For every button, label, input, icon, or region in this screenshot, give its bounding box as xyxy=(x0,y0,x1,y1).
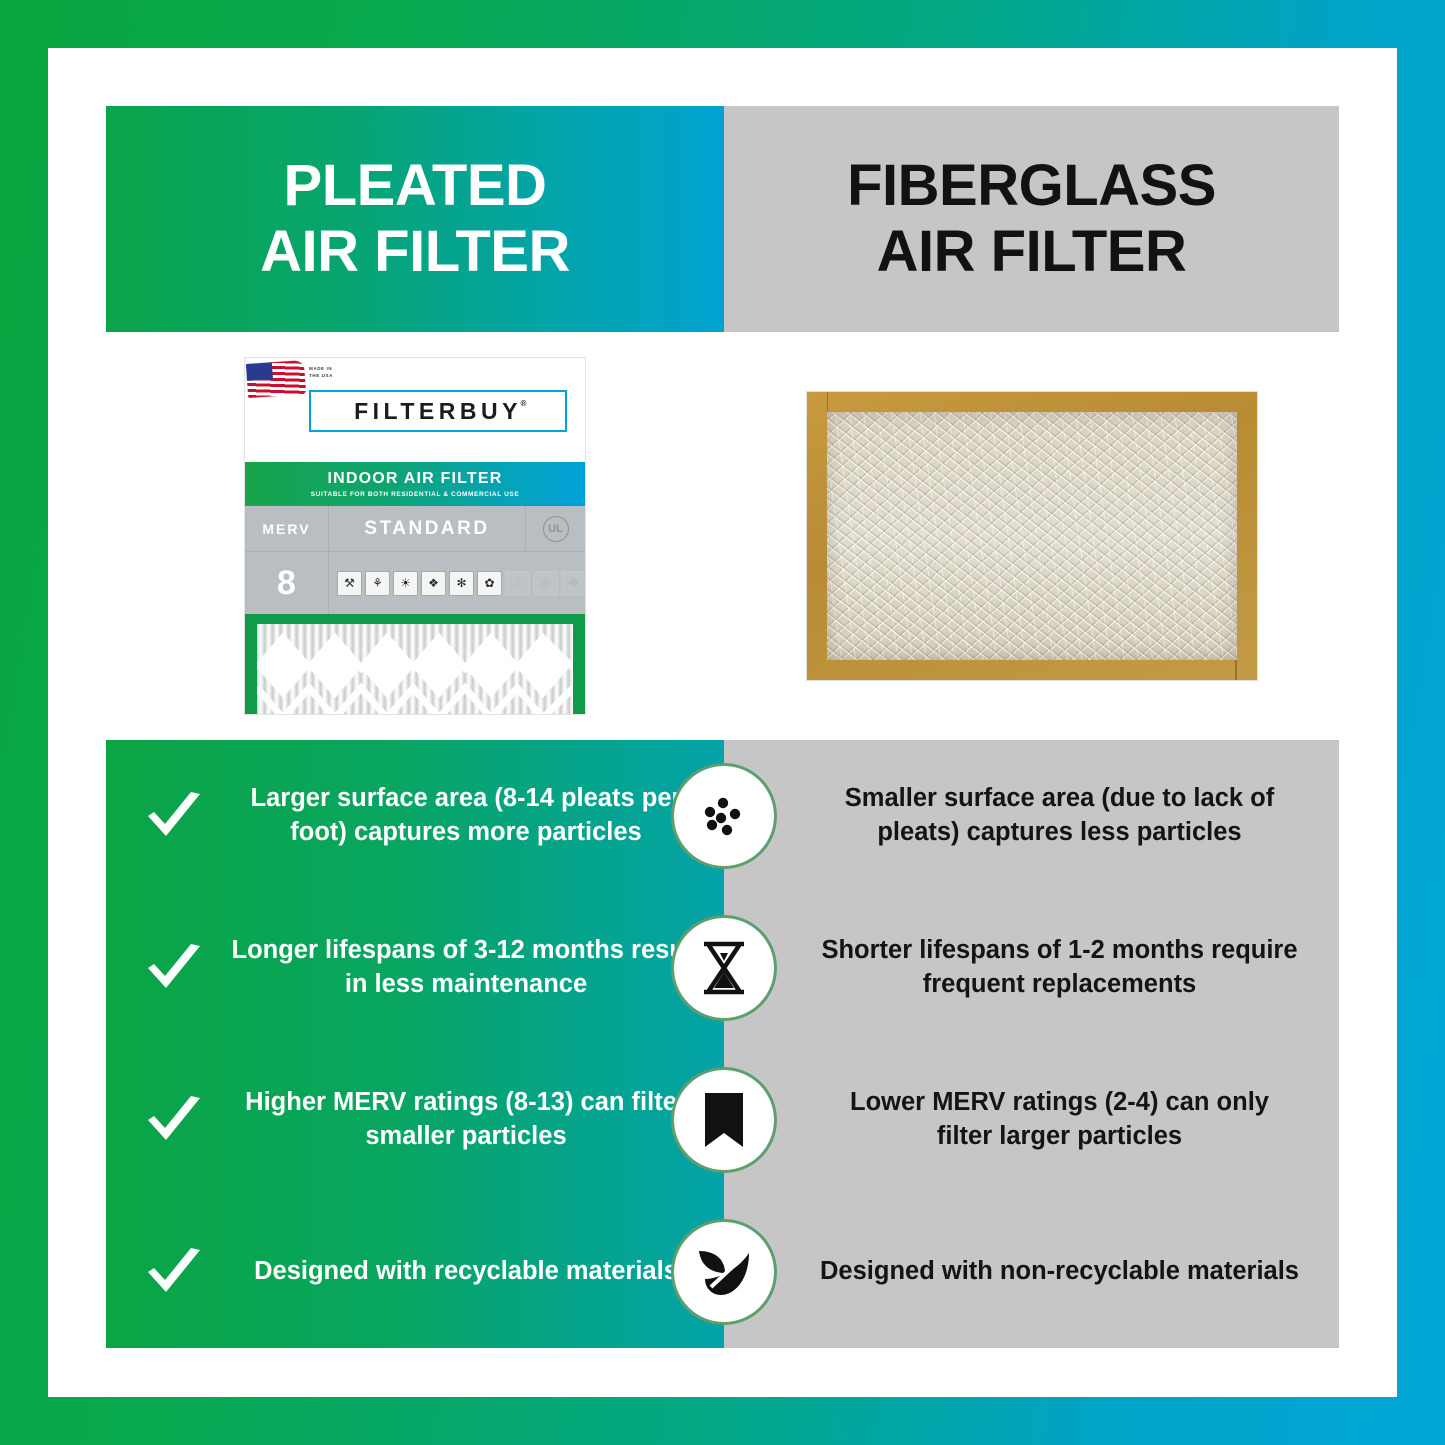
row-right-text: Lower MERV ratings (2-4) can only filter… xyxy=(820,1086,1299,1154)
merv-label-cell: MERV xyxy=(245,506,329,551)
frame-seam-right xyxy=(1235,660,1237,680)
header-row: PLEATED AIR FILTER FIBERGLASS AIR FILTER xyxy=(106,106,1339,332)
indoor-air-filter-band: INDOOR AIR FILTER SUITABLE FOR BOTH RESI… xyxy=(245,462,585,506)
header-fiberglass-line2: AIR FILTER xyxy=(847,219,1216,285)
ul-certification-icon: UL xyxy=(543,516,569,542)
comparison-row: Designed with recyclable materials xyxy=(106,1196,1339,1348)
box-top-section: MADE IN THE USA FILTERBUY® xyxy=(245,358,585,462)
row-right-cell: Smaller surface area (due to lack of ple… xyxy=(724,782,1339,850)
infographic-body: PLEATED AIR FILTER FIBERGLASS AIR FILTER xyxy=(106,106,1339,1339)
virus-icon: ❉ xyxy=(561,571,585,596)
particles-dots-icon xyxy=(671,763,777,869)
fiberglass-filter-image xyxy=(807,392,1257,680)
filterbuy-logo-frame: FILTERBUY® xyxy=(309,390,567,432)
made-in-line1: MADE IN xyxy=(309,366,333,373)
indoor-air-filter-subtitle: SUITABLE FOR BOTH RESIDENTIAL & COMMERCI… xyxy=(311,491,520,498)
header-pleated: PLEATED AIR FILTER xyxy=(106,106,724,332)
grade-label: STANDARD xyxy=(329,506,525,551)
row-left-cell: Designed with recyclable materials xyxy=(106,1246,724,1298)
comparison-rows: Larger surface area (8-14 pleats per foo… xyxy=(106,740,1339,1348)
support-wire-icon xyxy=(257,624,573,714)
row-right-cell: Lower MERV ratings (2-4) can only filter… xyxy=(724,1086,1339,1154)
row-left-cell: Higher MERV ratings (8-13) can filter sm… xyxy=(106,1086,724,1154)
row-center-icon-slot xyxy=(671,763,777,869)
made-in-line2: THE USA xyxy=(309,373,333,380)
ul-cert-cell: UL xyxy=(525,506,585,551)
header-fiberglass-title: FIBERGLASS AIR FILTER xyxy=(847,153,1216,284)
pleat-media-texture xyxy=(257,624,573,714)
row-right-cell: Shorter lifespans of 1-2 months require … xyxy=(724,934,1339,1002)
dust-mites-icon: ❖ xyxy=(421,571,446,596)
checkmark-icon xyxy=(142,1246,206,1298)
row-left-text: Longer lifespans of 3-12 months result i… xyxy=(222,934,710,1002)
outer-gradient-frame: PLEATED AIR FILTER FIBERGLASS AIR FILTER xyxy=(0,0,1445,1445)
smoke-icon: ☃ xyxy=(505,571,530,596)
row-right-text: Smaller surface area (due to lack of ple… xyxy=(820,782,1299,850)
comparison-row: Larger surface area (8-14 pleats per foo… xyxy=(106,740,1339,892)
header-pleated-title: PLEATED AIR FILTER xyxy=(260,153,570,284)
header-fiberglass-line1: FIBERGLASS xyxy=(847,153,1216,219)
pleated-product-cell: MADE IN THE USA FILTERBUY® INDOOR AIR FI… xyxy=(106,332,724,740)
frame-seam-left xyxy=(827,392,829,412)
filterbuy-logo-text: FILTERBUY® xyxy=(354,398,522,425)
dust-lint-icon: ⚒ xyxy=(337,571,362,596)
row-center-icon-slot xyxy=(671,1067,777,1173)
row-left-text: Larger surface area (8-14 pleats per foo… xyxy=(222,782,710,850)
usa-flag-icon xyxy=(246,360,306,398)
header-pleated-line1: PLEATED xyxy=(260,153,570,219)
row-center-icon-slot xyxy=(671,915,777,1021)
row-center-icon-slot xyxy=(671,1219,777,1325)
filterbuy-box-image: MADE IN THE USA FILTERBUY® INDOOR AIR FI… xyxy=(245,358,585,714)
header-pleated-line2: AIR FILTER xyxy=(260,219,570,285)
row-left-cell: Larger surface area (8-14 pleats per foo… xyxy=(106,782,724,850)
row-right-cell: Designed with non-recyclable materials xyxy=(724,1255,1339,1289)
header-fiberglass: FIBERGLASS AIR FILTER xyxy=(724,106,1339,332)
box-spec-top: MERV STANDARD UL xyxy=(245,506,585,552)
comparison-row: Longer lifespans of 3-12 months result i… xyxy=(106,892,1339,1044)
indoor-air-filter-title: INDOOR AIR FILTER xyxy=(327,470,502,488)
product-image-row: MADE IN THE USA FILTERBUY® INDOOR AIR FI… xyxy=(106,332,1339,740)
checkmark-icon xyxy=(142,942,206,994)
pollen-icon: ⚘ xyxy=(365,571,390,596)
row-left-text: Higher MERV ratings (8-13) can filter sm… xyxy=(222,1086,710,1154)
merv-value: 8 xyxy=(245,552,329,614)
checkmark-icon xyxy=(142,790,206,842)
row-right-text: Designed with non-recyclable materials xyxy=(820,1255,1299,1289)
checkmark-icon xyxy=(142,1094,206,1146)
capability-icon-row: ⚒ ⚘ ☀ ❖ ✻ ✿ ☃ ◎ ❉ xyxy=(329,552,585,614)
page-canvas: PLEATED AIR FILTER FIBERGLASS AIR FILTER xyxy=(48,48,1397,1397)
bookmark-icon xyxy=(671,1067,777,1173)
bacteria-icon: ✻ xyxy=(449,571,474,596)
hourglass-icon xyxy=(671,915,777,1021)
row-left-cell: Longer lifespans of 3-12 months result i… xyxy=(106,934,724,1002)
row-left-text: Designed with recyclable materials xyxy=(222,1255,710,1289)
leaf-icon xyxy=(671,1219,777,1325)
comparison-section: Larger surface area (8-14 pleats per foo… xyxy=(106,740,1339,1348)
row-right-text: Shorter lifespans of 1-2 months require … xyxy=(820,934,1299,1002)
comparison-row: Higher MERV ratings (8-13) can filter sm… xyxy=(106,1044,1339,1196)
made-in-usa-text: MADE IN THE USA xyxy=(309,366,333,380)
pleated-media-panel: FILTERBUY xyxy=(245,614,585,714)
mold-spores-icon: ☀ xyxy=(393,571,418,596)
pet-dander-icon: ✿ xyxy=(477,571,502,596)
odors-icon: ◎ xyxy=(533,571,558,596)
box-spec-section: MERV STANDARD UL 8 ⚒ xyxy=(245,506,585,614)
box-spec-bottom: 8 ⚒ ⚘ ☀ ❖ ✻ ✿ ☃ ◎ ❉ xyxy=(245,552,585,614)
fiberglass-product-cell xyxy=(724,332,1339,740)
merv-label: MERV xyxy=(262,521,310,537)
